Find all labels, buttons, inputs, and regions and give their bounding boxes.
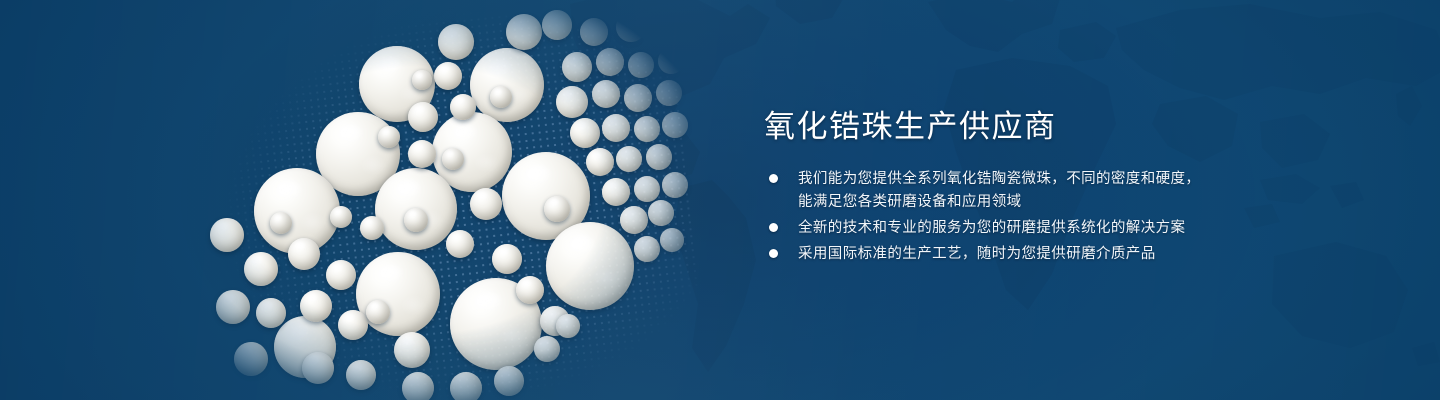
bullet-dot-icon xyxy=(769,174,778,183)
banner-bullet-list: 我们能为您提供全系列氧化锆陶瓷微珠，不同的密度和硬度， 能满足您各类研磨设备和应… xyxy=(766,168,1366,269)
bullet-line: 全新的技术和专业的服务为您的研磨提供系统化的解决方案 xyxy=(798,217,1366,240)
list-item: 采用国际标准的生产工艺，随时为您提供研磨介质产品 xyxy=(766,243,1366,266)
list-item: 全新的技术和专业的服务为您的研磨提供系统化的解决方案 xyxy=(766,217,1366,240)
bullet-line: 采用国际标准的生产工艺，随时为您提供研磨介质产品 xyxy=(798,243,1366,266)
banner-content: 氧化锆珠生产供应商 我们能为您提供全系列氧化锆陶瓷微珠，不同的密度和硬度， 能满… xyxy=(764,0,1384,400)
list-item: 我们能为您提供全系列氧化锆陶瓷微珠，不同的密度和硬度， 能满足您各类研磨设备和应… xyxy=(766,168,1366,214)
zirconia-beads-photo xyxy=(150,0,720,400)
banner-headline: 氧化锆珠生产供应商 xyxy=(764,108,1057,146)
bullet-line: 能满足您各类研磨设备和应用领域 xyxy=(798,191,1366,214)
hero-banner: 氧化锆珠生产供应商 我们能为您提供全系列氧化锆陶瓷微珠，不同的密度和硬度， 能满… xyxy=(0,0,1440,400)
bullet-text: 采用国际标准的生产工艺，随时为您提供研磨介质产品 xyxy=(798,243,1366,266)
bullet-line: 我们能为您提供全系列氧化锆陶瓷微珠，不同的密度和硬度， xyxy=(798,168,1366,191)
bullet-text: 我们能为您提供全系列氧化锆陶瓷微珠，不同的密度和硬度， 能满足您各类研磨设备和应… xyxy=(798,168,1366,214)
bullet-dot-icon xyxy=(769,223,778,232)
bullet-dot-icon xyxy=(769,249,778,258)
bullet-text: 全新的技术和专业的服务为您的研磨提供系统化的解决方案 xyxy=(798,217,1366,240)
